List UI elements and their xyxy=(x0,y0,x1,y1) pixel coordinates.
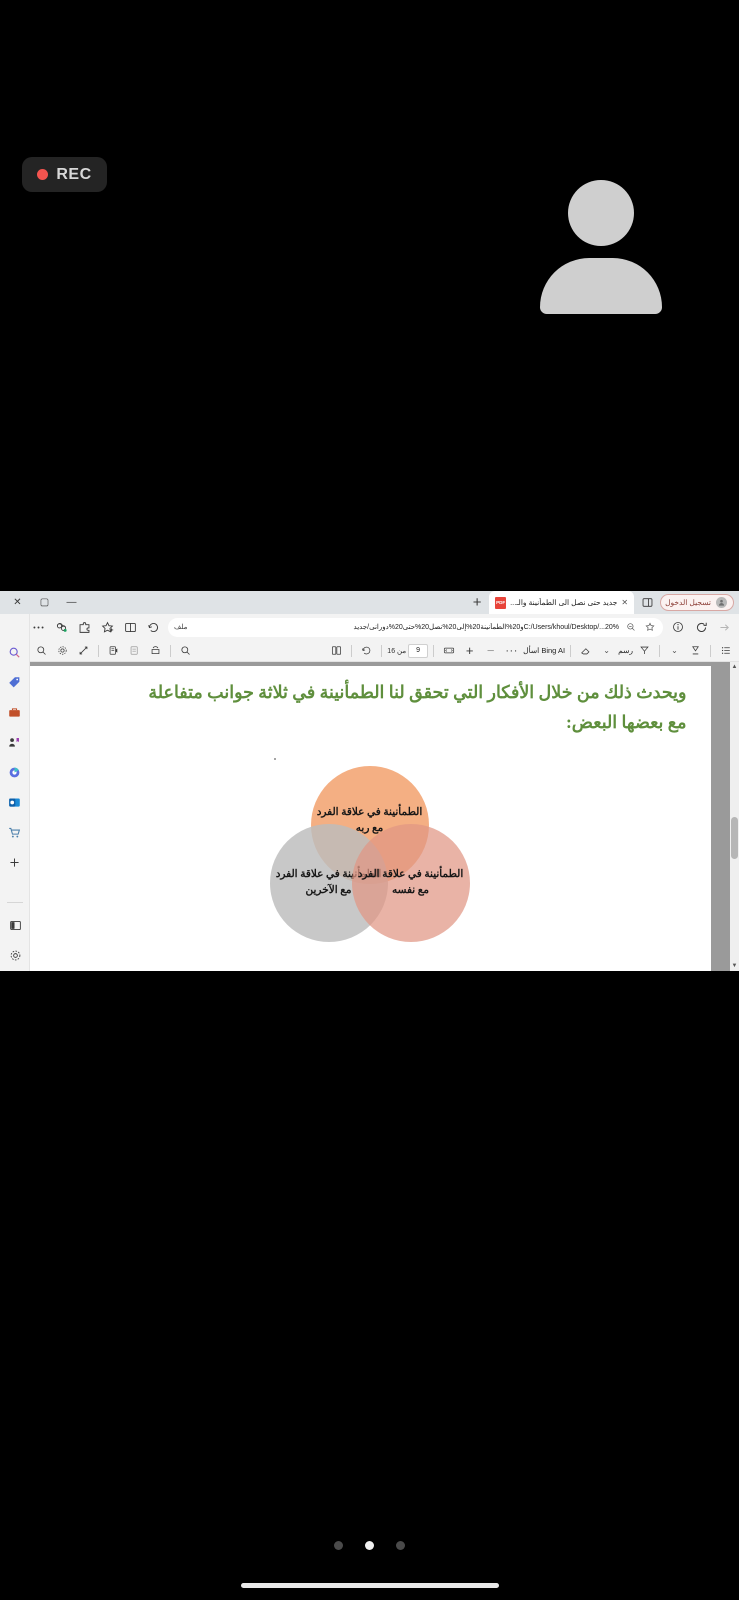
venn-stray-dot xyxy=(274,758,276,760)
pdf-page: ويحدث ذلك من خلال الأفكار التي تحقق لنا … xyxy=(29,666,711,971)
avatar-placeholder xyxy=(540,180,662,315)
address-bar[interactable]: C:/Users/khoul/Desktop/...20%و20%الطمأني… xyxy=(168,618,663,637)
document-heading: ويحدث ذلك من خلال الأفكار التي تحقق لنا … xyxy=(29,678,711,738)
page-layout-icon[interactable] xyxy=(327,641,346,660)
scroll-down-arrow[interactable]: ▼ xyxy=(730,961,739,971)
chevron-down-icon[interactable]: ⌄ xyxy=(597,641,616,660)
page-number-input[interactable]: 9 xyxy=(408,644,428,658)
sidebar-item-outlook[interactable] xyxy=(5,792,25,812)
undo-icon[interactable] xyxy=(357,641,376,660)
browser-window: ✕ ▢ — + ✕ جديد حتى نصل الى الطمأنينة وال… xyxy=(0,591,739,971)
sidebar-item-bookmark-tag[interactable] xyxy=(5,672,25,692)
maximize-window-button[interactable]: ▢ xyxy=(31,592,58,614)
close-window-button[interactable]: ✕ xyxy=(4,592,31,614)
sign-in-label: تسجيل الدخول xyxy=(665,598,711,607)
forward-arrow-icon[interactable] xyxy=(713,616,735,638)
page-indicator-dots xyxy=(0,1541,739,1550)
more-options-button[interactable]: ··· xyxy=(502,641,521,660)
fit-width-icon[interactable] xyxy=(439,641,458,660)
split-screen-icon[interactable] xyxy=(119,616,141,638)
address-url-text: C:/Users/khoul/Desktop/...20%و20%الطمأني… xyxy=(192,623,619,631)
browser-essentials-icon[interactable] xyxy=(50,616,72,638)
page-dot-1[interactable] xyxy=(334,1541,343,1550)
gear-icon[interactable] xyxy=(53,641,72,660)
find-icon[interactable] xyxy=(176,641,195,660)
sidebar-item-search[interactable] xyxy=(5,642,25,662)
page-dot-2[interactable] xyxy=(365,1541,374,1550)
eraser-icon[interactable] xyxy=(576,641,595,660)
tab-title: جديد حتى نصل الى الطمأنينة والـ... xyxy=(510,598,617,607)
vertical-scrollbar[interactable]: ▲ ▼ xyxy=(730,662,739,971)
sidebar-item-briefcase[interactable] xyxy=(5,702,25,722)
screen: REC ✕ ▢ — + ✕ جديد حتى نصل الى الطمأنينة… xyxy=(0,0,739,1600)
pdf-toolbar: من 16 9 + − ··· اسأل Bing AI ⌄ رسم ⌄ xyxy=(0,640,739,662)
highlight-icon[interactable] xyxy=(686,641,705,660)
sidebar-item-settings[interactable] xyxy=(5,945,25,965)
sign-in-button[interactable]: تسجيل الدخول xyxy=(660,594,734,611)
zoom-out-button[interactable]: − xyxy=(481,641,500,660)
sidebar-bottom-group xyxy=(0,900,30,965)
pdf-file-icon: PDF xyxy=(495,597,506,609)
favorite-star-icon[interactable] xyxy=(643,620,657,634)
home-indicator-bar[interactable] xyxy=(241,1583,499,1588)
recording-label: REC xyxy=(56,166,91,184)
site-info-icon[interactable] xyxy=(667,616,689,638)
new-tab-button[interactable]: + xyxy=(465,592,489,614)
fit-page-icon[interactable] xyxy=(74,641,93,660)
sidebar-item-copilot[interactable] xyxy=(5,762,25,782)
address-file-label: ملف xyxy=(174,623,187,631)
avatar-body-icon xyxy=(540,258,662,314)
favorites-add-icon[interactable] xyxy=(96,616,118,638)
sidebar-item-contacts[interactable] xyxy=(5,732,25,752)
scrollbar-thumb[interactable] xyxy=(731,817,738,859)
document-heading-line2: مع بعضها البعض: xyxy=(59,708,687,738)
browser-tab[interactable]: ✕ جديد حتى نصل الى الطمأنينة والـ... PDF xyxy=(489,591,634,614)
chevron-down-icon-2[interactable]: ⌄ xyxy=(665,641,684,660)
refresh-icon[interactable] xyxy=(690,616,712,638)
window-controls: ✕ ▢ — xyxy=(0,592,85,614)
scroll-up-arrow[interactable]: ▲ xyxy=(730,662,739,672)
venn-circle-right-label: الطمأنينة في علاقة الفرد مع نفسه xyxy=(352,867,470,897)
tab-close-icon[interactable]: ✕ xyxy=(621,598,628,607)
record-dot-icon xyxy=(37,169,48,180)
text-select-icon[interactable] xyxy=(125,641,144,660)
zoom-in-button[interactable]: + xyxy=(460,641,479,660)
minimize-window-button[interactable]: — xyxy=(58,592,85,614)
document-heading-line1: ويحدث ذلك من خلال الأفكار التي تحقق لنا … xyxy=(59,678,687,708)
browser-titlebar: ✕ ▢ — + ✕ جديد حتى نصل الى الطمأنينة وال… xyxy=(0,591,739,614)
sidebar-item-split-screen[interactable] xyxy=(5,915,25,935)
collections-icon[interactable] xyxy=(634,592,660,614)
table-of-contents-icon[interactable] xyxy=(716,641,735,660)
search-icon[interactable] xyxy=(32,641,51,660)
page-dot-3[interactable] xyxy=(396,1541,405,1550)
venn-diagram: الطمأنينة في علاقة الفرد مع ربه الطمأنين… xyxy=(270,758,470,943)
rotate-icon[interactable] xyxy=(146,641,165,660)
ask-bing-ai-button[interactable]: اسأل Bing AI xyxy=(523,646,565,655)
sidebar-divider xyxy=(7,902,23,903)
history-icon[interactable] xyxy=(142,616,164,638)
sidebar-item-add[interactable] xyxy=(5,852,25,872)
sign-in-avatar-icon xyxy=(716,597,727,608)
sidebar-rail xyxy=(0,614,30,971)
more-options-icon[interactable] xyxy=(27,616,49,638)
pdf-document-viewport[interactable]: ويحدث ذلك من خلال الأفكار التي تحقق لنا … xyxy=(0,662,739,971)
read-aloud-icon[interactable] xyxy=(104,641,123,660)
recording-badge: REC xyxy=(22,157,107,192)
avatar-head-icon xyxy=(568,180,634,246)
page-total-label: من 16 xyxy=(387,647,406,655)
bottom-navigation xyxy=(0,1510,739,1600)
venn-circle-right: الطمأنينة في علاقة الفرد مع نفسه xyxy=(352,824,470,942)
browser-navbar: b xyxy=(0,614,739,640)
page-zoom-icon[interactable] xyxy=(624,620,638,634)
draw-label[interactable]: رسم xyxy=(618,646,633,655)
pen-icon[interactable] xyxy=(635,641,654,660)
sidebar-item-shopping-cart[interactable] xyxy=(5,822,25,842)
extensions-icon[interactable] xyxy=(73,616,95,638)
